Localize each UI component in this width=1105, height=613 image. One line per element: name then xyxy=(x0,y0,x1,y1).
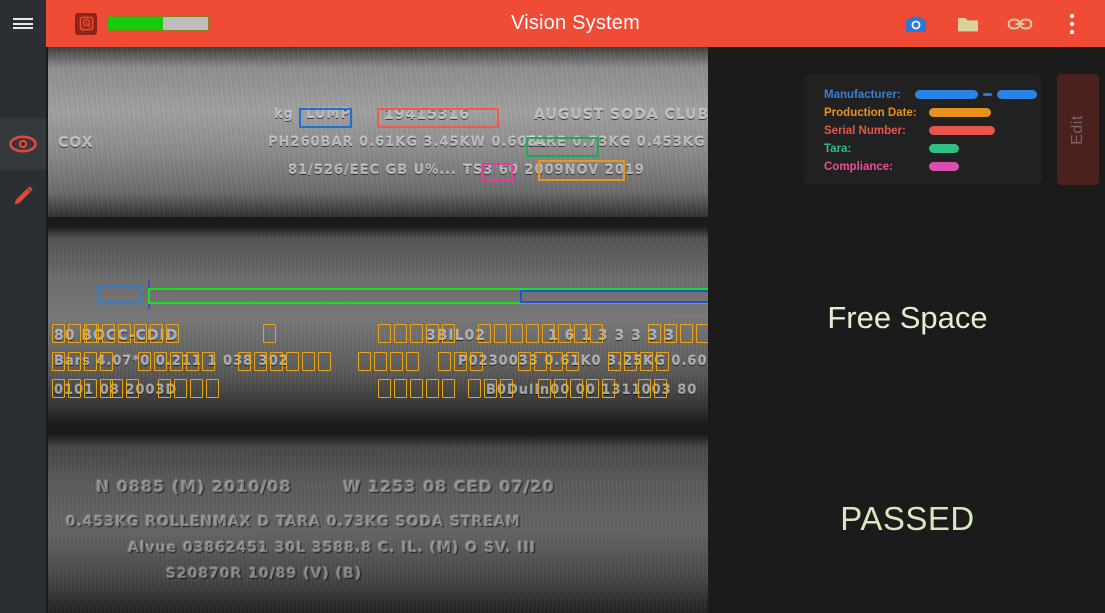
character-detection-box[interactable] xyxy=(442,379,455,398)
roi-box-blue[interactable] xyxy=(520,290,708,303)
link-icon[interactable] xyxy=(1007,11,1033,37)
character-detection-box[interactable] xyxy=(534,352,547,371)
character-detection-box[interactable] xyxy=(426,379,439,398)
hamburger-bar xyxy=(13,23,33,25)
character-detection-box[interactable] xyxy=(510,324,523,343)
free-space-label: Free Space xyxy=(710,300,1105,336)
character-detection-box[interactable] xyxy=(68,352,81,371)
eye-icon xyxy=(9,135,37,153)
detection-box-blue[interactable] xyxy=(299,108,352,128)
metadata-label: Manufacturer: xyxy=(824,89,915,101)
character-detection-box[interactable] xyxy=(68,324,81,343)
metadata-row: Tara: xyxy=(824,140,1042,157)
more-options-icon[interactable] xyxy=(1059,11,1085,37)
metadata-value-redacted xyxy=(915,90,978,99)
raw-strip-bottom[interactable]: N 0885 (M) 2010/08W 1253 08 CED 07/200.4… xyxy=(48,433,708,613)
character-detection-box[interactable] xyxy=(52,379,65,398)
character-detection-box[interactable] xyxy=(438,352,451,371)
character-detection-box[interactable] xyxy=(608,352,621,371)
vision-system-window: Vision System xyxy=(0,0,1105,613)
character-detection-box[interactable] xyxy=(494,324,507,343)
image-viewer[interactable]: kgLUMP19415316AUGUST SODA CLUBCOXPH260BA… xyxy=(48,47,708,613)
kebab-glyph xyxy=(1069,13,1075,35)
metadata-row: Manufacturer: xyxy=(824,86,1042,103)
camera-glyph xyxy=(904,14,928,34)
character-detection-box[interactable] xyxy=(518,352,531,371)
character-detection-box[interactable] xyxy=(202,352,215,371)
character-detection-box[interactable] xyxy=(500,379,513,398)
character-detection-box[interactable] xyxy=(86,324,99,343)
engraved-text: S20870R 10/89 (V) (B) xyxy=(166,566,362,582)
engraved-text: PH260BAR 0.61KG 3.45KW 0.608L xyxy=(268,135,547,150)
character-detection-box[interactable] xyxy=(158,379,171,398)
metadata-row: Production Date: xyxy=(824,104,1042,121)
metadata-row: Compliance: xyxy=(824,158,1042,175)
character-detection-box[interactable] xyxy=(394,324,407,343)
hard-drive-icon[interactable] xyxy=(75,13,97,35)
detection-box-red[interactable] xyxy=(377,108,499,128)
hamburger-bar xyxy=(13,27,33,29)
character-detection-box[interactable] xyxy=(206,379,219,398)
character-detection-box[interactable] xyxy=(52,352,65,371)
character-detection-box[interactable] xyxy=(154,352,167,371)
character-detection-box[interactable] xyxy=(190,379,203,398)
ocr-strip-top[interactable]: kgLUMP19415316AUGUST SODA CLUBCOXPH260BA… xyxy=(48,47,708,217)
character-detection-box[interactable] xyxy=(526,324,539,343)
pencil-icon xyxy=(10,183,36,209)
character-detection-box[interactable] xyxy=(110,379,123,398)
camera-icon[interactable] xyxy=(903,11,929,37)
detection-box-green[interactable] xyxy=(526,137,599,157)
sidebar-item-edit-tool[interactable] xyxy=(0,170,46,222)
character-detection-box[interactable] xyxy=(680,324,693,343)
character-detection-box[interactable] xyxy=(570,379,583,398)
engraved-text: 0.453KG ROLLENMAX D TARA 0.73KG SODA STR… xyxy=(66,514,521,530)
character-detection-box[interactable] xyxy=(138,352,151,371)
character-detection-box[interactable] xyxy=(602,379,615,398)
character-detection-box[interactable] xyxy=(118,324,131,343)
roi-box-cyan[interactable] xyxy=(98,286,142,304)
character-detection-box[interactable] xyxy=(302,352,315,371)
character-detection-box[interactable] xyxy=(186,352,199,371)
character-detection-box[interactable] xyxy=(478,324,491,343)
character-detection-box[interactable] xyxy=(134,324,147,343)
character-detection-box[interactable] xyxy=(102,324,115,343)
character-detection-box[interactable] xyxy=(566,352,579,371)
engraved-text: kg xyxy=(274,107,294,122)
character-detection-box[interactable] xyxy=(84,379,97,398)
character-detection-box[interactable] xyxy=(238,352,251,371)
link-glyph xyxy=(1007,16,1033,32)
app-header: Vision System xyxy=(46,0,1105,47)
metadata-label: Compliance: xyxy=(824,161,929,173)
character-detection-box[interactable] xyxy=(170,352,183,371)
character-detection-box[interactable] xyxy=(640,352,653,371)
character-detection-box[interactable] xyxy=(263,324,276,343)
character-detection-box[interactable] xyxy=(624,352,637,371)
character-detection-box[interactable] xyxy=(378,379,391,398)
metadata-value-redacted xyxy=(997,90,1037,99)
detection-box-orange[interactable] xyxy=(538,160,625,181)
character-detection-box[interactable] xyxy=(550,352,563,371)
character-detection-box[interactable] xyxy=(270,352,283,371)
engraved-text: AUGUST SODA CLUB xyxy=(534,107,708,123)
gauge-strip-middle[interactable]: 80 BOCC-CDIDD30F103BIL021 6 1 3 3 3 3 3B… xyxy=(48,227,708,423)
status-badge: PASSED xyxy=(710,500,1105,538)
character-detection-box[interactable] xyxy=(554,379,567,398)
hard-drive-glyph xyxy=(79,16,94,31)
character-detection-box[interactable] xyxy=(654,379,667,398)
metadata-label: Tara: xyxy=(824,143,929,155)
character-detection-box[interactable] xyxy=(664,324,677,343)
character-detection-box[interactable] xyxy=(638,379,651,398)
engraved-text: N 0885 (M) 2010/08 xyxy=(96,477,292,496)
character-detection-box[interactable] xyxy=(166,324,179,343)
character-detection-box[interactable] xyxy=(426,324,439,343)
character-detection-box[interactable] xyxy=(390,352,403,371)
engraved-text: COX xyxy=(58,135,93,151)
character-detection-box[interactable] xyxy=(586,379,599,398)
character-detection-box[interactable] xyxy=(484,379,497,398)
character-detection-box[interactable] xyxy=(410,379,423,398)
character-detection-box[interactable] xyxy=(374,352,387,371)
character-detection-box[interactable] xyxy=(590,324,603,343)
metadata-value-redacted xyxy=(929,162,959,171)
character-detection-box[interactable] xyxy=(100,352,113,371)
progress-bar xyxy=(107,16,209,31)
engraved-text: P0230033 0.61K0 3.25KG 0.608L xyxy=(458,354,708,369)
metadata-label: Serial Number: xyxy=(824,125,929,137)
character-detection-box[interactable] xyxy=(558,324,571,343)
metadata-card: Manufacturer:Production Date:Serial Numb… xyxy=(804,74,1042,185)
engraved-text: 81/526/EEC GB U%... xyxy=(288,163,457,178)
character-detection-box[interactable] xyxy=(442,324,455,343)
character-detection-box[interactable] xyxy=(394,379,407,398)
metadata-value-redacted xyxy=(929,108,991,117)
hamburger-menu-icon[interactable] xyxy=(0,0,46,47)
character-detection-box[interactable] xyxy=(68,379,81,398)
metadata-label: Production Date: xyxy=(824,107,929,119)
character-detection-box[interactable] xyxy=(470,352,483,371)
edit-button-label: Edit xyxy=(1069,115,1087,145)
left-sidebar xyxy=(0,0,46,613)
hamburger-bar xyxy=(13,18,33,20)
character-detection-box[interactable] xyxy=(542,324,555,343)
folder-glyph xyxy=(956,14,980,34)
header-actions xyxy=(903,11,1105,37)
character-detection-box[interactable] xyxy=(454,352,467,371)
detection-box-magenta[interactable] xyxy=(482,163,513,181)
metadata-value-redacted xyxy=(929,144,959,153)
character-detection-box[interactable] xyxy=(378,324,391,343)
character-detection-box[interactable] xyxy=(126,379,139,398)
engraved-text: Alvue 03862451 30L 3588.8 C. IL. (M) O S… xyxy=(128,540,536,556)
character-detection-box[interactable] xyxy=(286,352,299,371)
character-detection-box[interactable] xyxy=(52,324,65,343)
character-detection-box[interactable] xyxy=(84,352,97,371)
character-detection-box[interactable] xyxy=(318,352,331,371)
character-detection-box[interactable] xyxy=(468,379,481,398)
metadata-value-redacted xyxy=(929,126,995,135)
folder-icon[interactable] xyxy=(955,11,981,37)
sidebar-item-view-tool[interactable] xyxy=(0,118,46,170)
character-detection-box[interactable] xyxy=(150,324,163,343)
metal-surface-texture xyxy=(48,47,708,217)
character-detection-box[interactable] xyxy=(406,352,419,371)
character-detection-box[interactable] xyxy=(574,324,587,343)
character-detection-box[interactable] xyxy=(696,324,708,343)
engraved-text: W 1253 08 CED 07/20 xyxy=(343,477,555,496)
metadata-value-separator xyxy=(983,93,992,96)
character-detection-box[interactable] xyxy=(358,352,371,371)
character-detection-box[interactable] xyxy=(254,352,267,371)
progress-bar-fill xyxy=(108,17,163,30)
metadata-row: Serial Number: xyxy=(824,122,1042,139)
character-detection-box[interactable] xyxy=(174,379,187,398)
character-detection-box[interactable] xyxy=(648,324,661,343)
header-left-group xyxy=(46,13,209,35)
edit-button[interactable]: Edit xyxy=(1057,74,1099,185)
character-detection-box[interactable] xyxy=(410,324,423,343)
character-detection-box[interactable] xyxy=(538,379,551,398)
character-detection-box[interactable] xyxy=(656,352,669,371)
